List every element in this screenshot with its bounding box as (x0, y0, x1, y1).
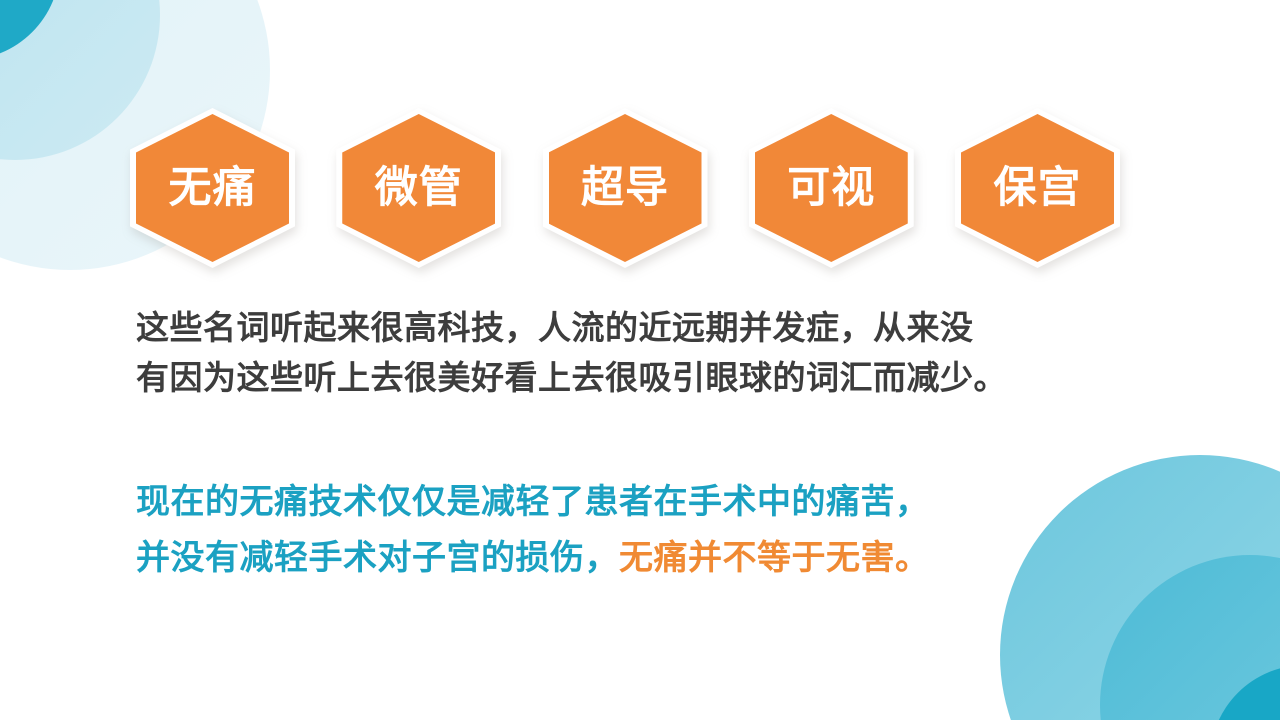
hex-badge-baogong[interactable]: 保宫 (955, 108, 1120, 268)
hex-badge-label: 可视 (787, 167, 875, 210)
hex-badge-weiguan[interactable]: 微管 (336, 108, 501, 268)
ring-bottom-right-inner (1210, 665, 1280, 720)
hex-badge-label: 保宫 (994, 167, 1082, 210)
highlight-paragraph-line-1: 现在的无痛技术仅仅是减轻了患者在手术中的痛苦， (136, 474, 1146, 530)
hex-badge-label: 超导 (581, 167, 669, 210)
highlight-line-2-orange-part: 无痛并不等于无害。 (619, 539, 930, 577)
hex-badge-label: 微管 (375, 167, 463, 210)
ring-top-left-inner (0, 0, 60, 60)
hex-badge-keshi[interactable]: 可视 (749, 108, 914, 268)
highlight-paragraph: 现在的无痛技术仅仅是减轻了患者在手术中的痛苦， 并没有减轻手术对子宫的损伤，无痛… (136, 474, 1146, 586)
body-paragraph: 这些名词听起来很高科技，人流的近远期并发症，从来没 有因为这些听上去很美好看上去… (136, 303, 1136, 403)
hex-badge-chaodao[interactable]: 超导 (543, 108, 708, 268)
body-paragraph-line-2: 有因为这些听上去很美好看上去很吸引眼球的词汇而减少。 (136, 353, 1136, 403)
slide-canvas: 无痛 微管 超导 可视 保宫 这些名词听起来很高科技，人流的近远期并发症，从来没… (0, 0, 1280, 720)
highlight-line-2-teal-part: 并没有减轻手术对子宫的损伤， (136, 539, 619, 577)
body-paragraph-line-1: 这些名词听起来很高科技，人流的近远期并发症，从来没 (136, 303, 1136, 353)
highlight-paragraph-line-2: 并没有减轻手术对子宫的损伤，无痛并不等于无害。 (136, 530, 1146, 586)
hex-badge-label: 无痛 (169, 167, 257, 210)
hexagon-badge-row: 无痛 微管 超导 可视 保宫 (130, 108, 1120, 273)
hex-badge-wutong[interactable]: 无痛 (130, 108, 295, 268)
